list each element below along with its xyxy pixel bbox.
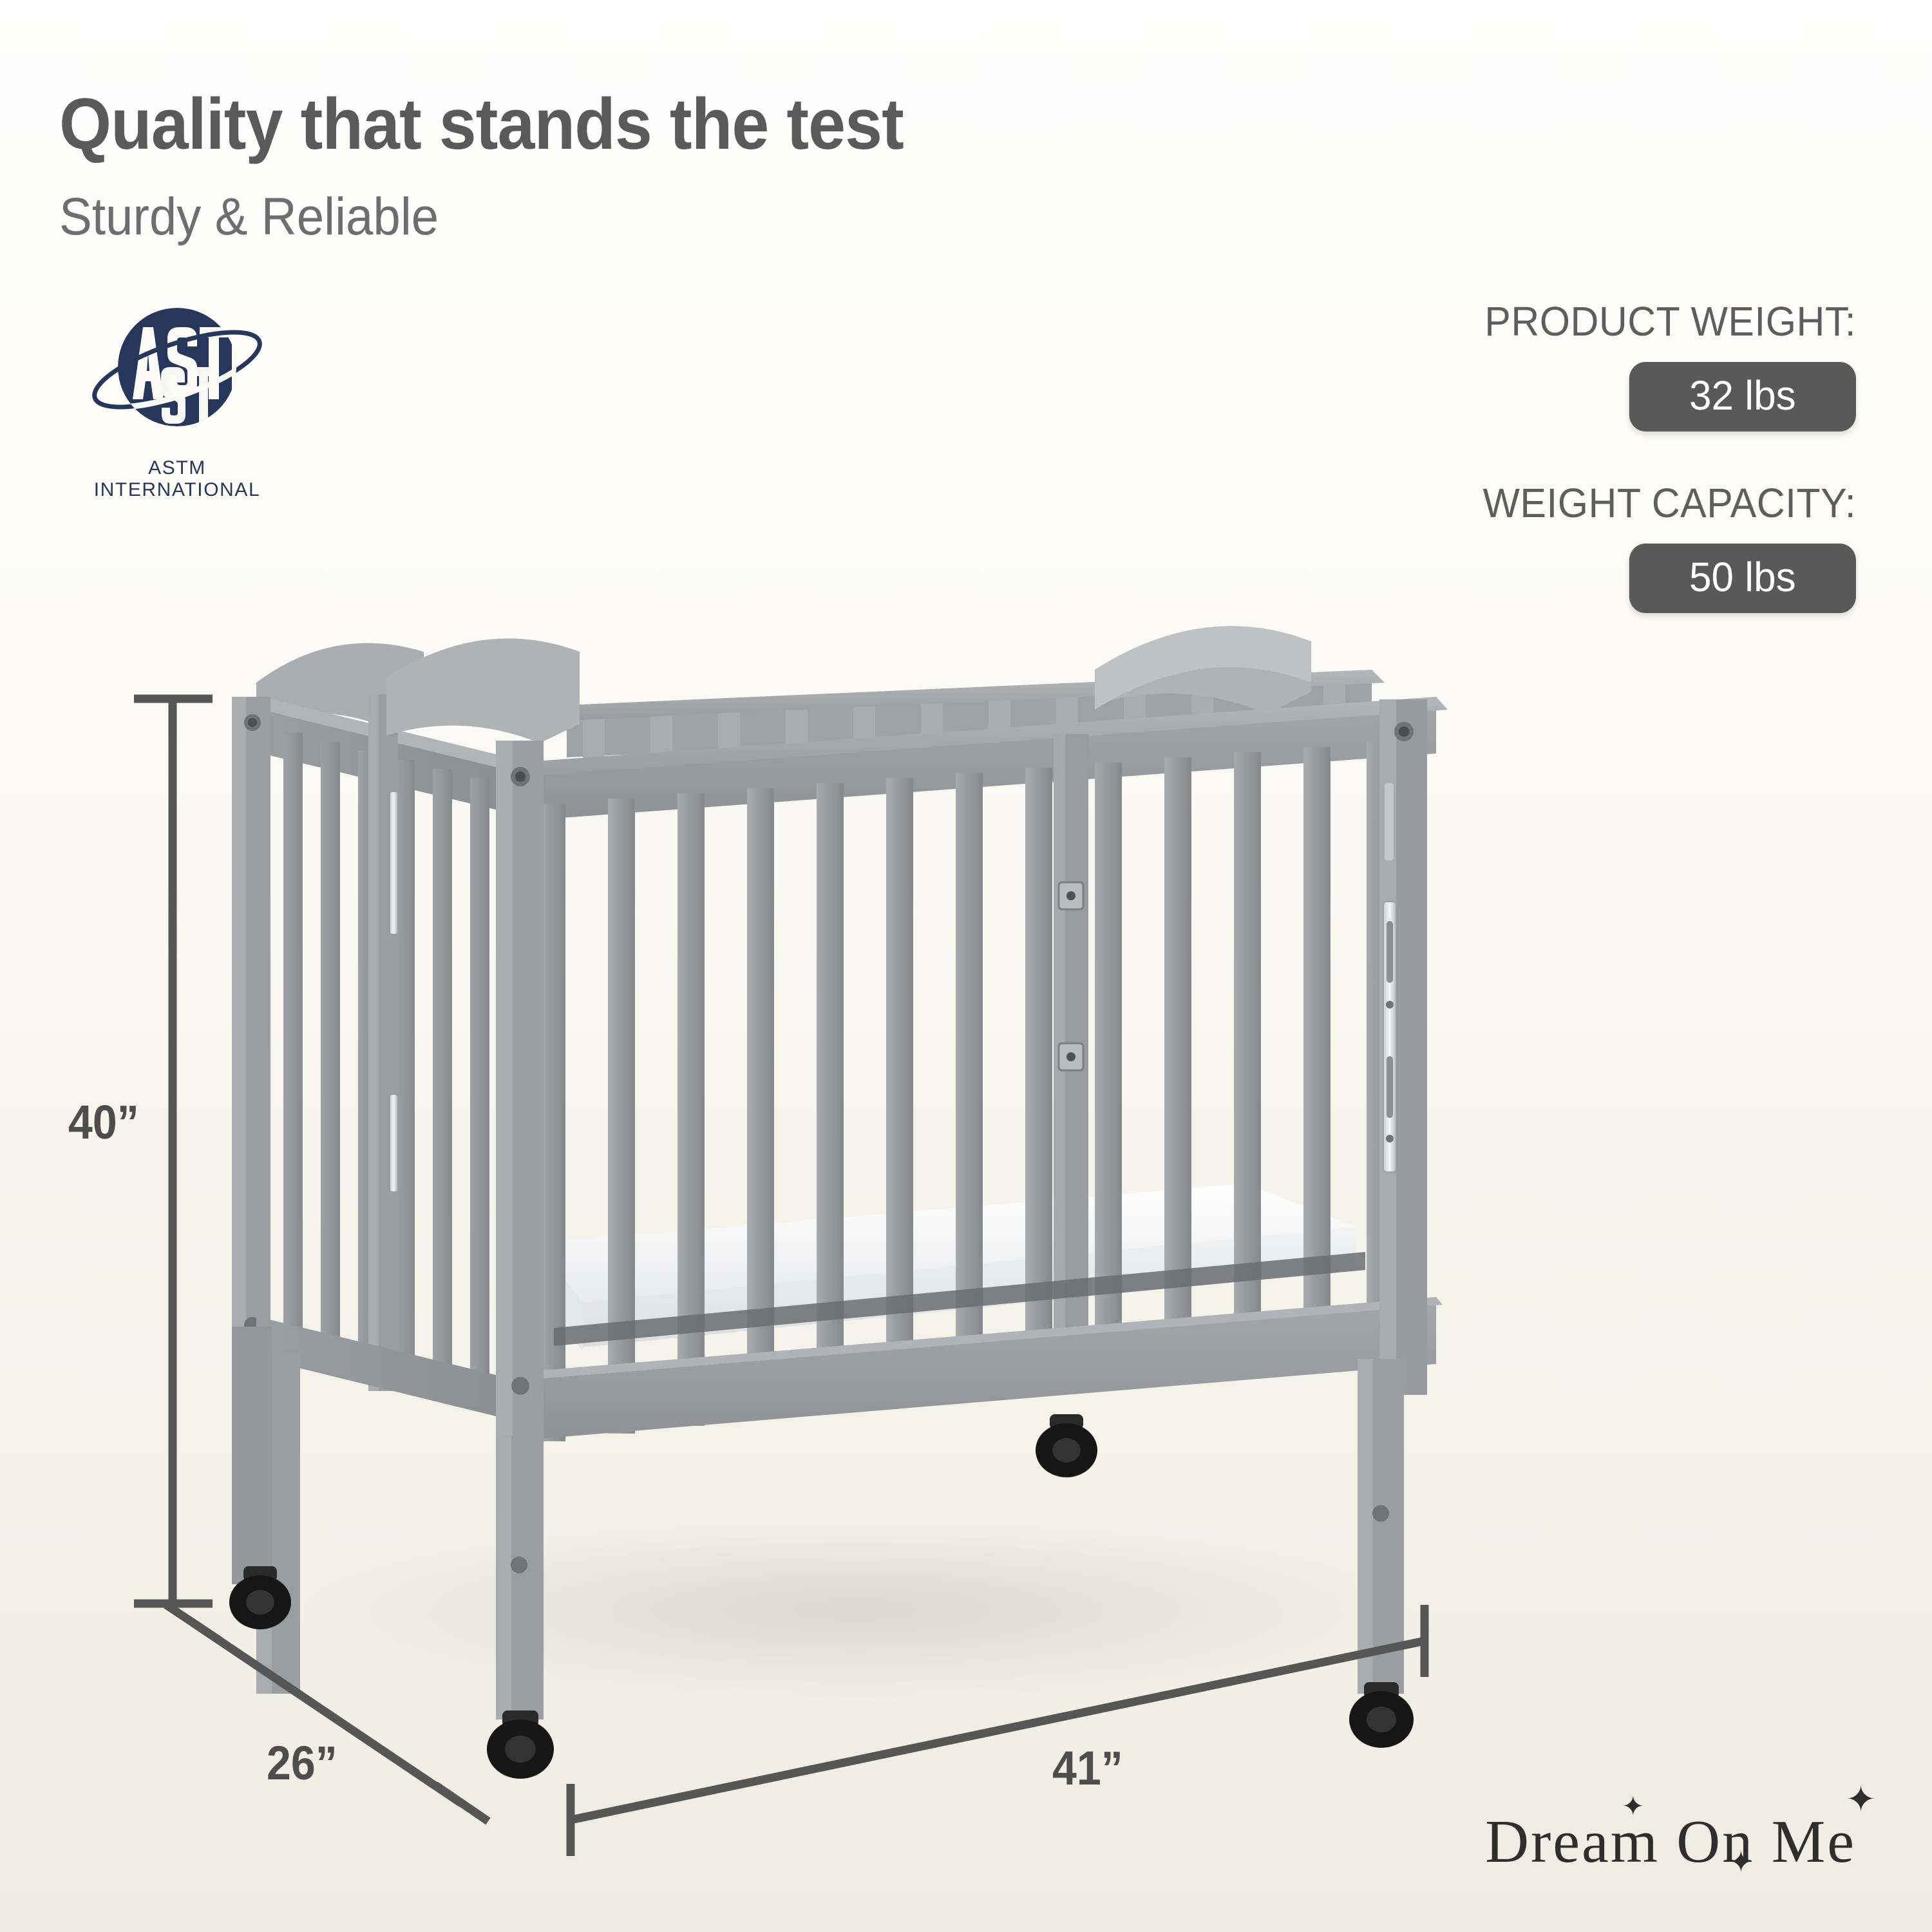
dimension-label-depth: 26” <box>267 1736 337 1790</box>
crib-left-front-post <box>496 741 544 1719</box>
crib-product-image <box>0 0 1932 1932</box>
crib-front-panel <box>509 697 1448 1441</box>
infographic-canvas: Quality that stands the test Sturdy & Re… <box>0 0 1932 1932</box>
dimension-label-width: 41” <box>1052 1741 1123 1795</box>
star-icon: ✦ <box>1728 1847 1754 1877</box>
caster-wheel <box>487 1710 554 1779</box>
star-icon: ✦ <box>1846 1781 1876 1817</box>
floor-shadow <box>303 1520 1410 1700</box>
caster-wheel <box>1036 1414 1097 1477</box>
brand-name: Dream On Me <box>1485 1807 1856 1877</box>
dimension-label-height: 40” <box>68 1095 139 1150</box>
brand-logo: Dream On Me ✦ ✦ ✦ <box>1485 1807 1856 1877</box>
star-icon: ✦ <box>1622 1793 1644 1820</box>
